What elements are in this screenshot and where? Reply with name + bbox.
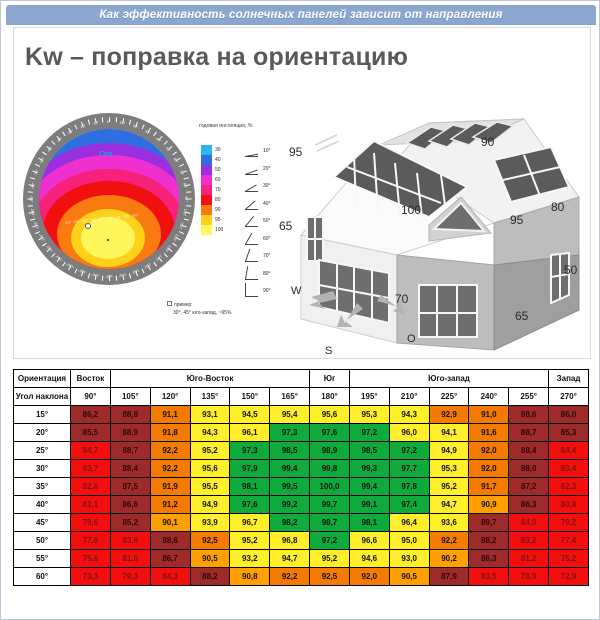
table-angle-header: 270° bbox=[549, 388, 589, 406]
tilt-angle-icon bbox=[245, 215, 260, 228]
ramp-swatch bbox=[201, 145, 212, 155]
table-cell: 99,5 bbox=[270, 478, 310, 496]
table-cell: 97,2 bbox=[310, 532, 350, 550]
ramp-label: 100 bbox=[215, 225, 223, 235]
table-cell: 99,8 bbox=[310, 460, 350, 478]
table-cell: 99,2 bbox=[270, 496, 310, 514]
table-cell: 94,9 bbox=[190, 496, 230, 514]
table-cell: 98,1 bbox=[349, 514, 389, 532]
tilt-angle-icon bbox=[245, 145, 260, 158]
table-cell: 88,8 bbox=[110, 406, 150, 424]
table-cell: 95,4 bbox=[270, 406, 310, 424]
table-cell: 88,0 bbox=[509, 460, 549, 478]
table-group-header: Восток bbox=[71, 370, 111, 388]
tilt-angle-icon bbox=[245, 268, 260, 281]
ramp-label: 30 bbox=[215, 145, 223, 155]
table-cell: 92,2 bbox=[429, 532, 469, 550]
table-angle-header: 135° bbox=[190, 388, 230, 406]
polar-tick-label: 90° bbox=[184, 193, 188, 205]
house-illustration: 9590809510065507065 WSO bbox=[279, 105, 589, 355]
table-cell: 87,5 bbox=[110, 478, 150, 496]
table-cell: 97,8 bbox=[389, 478, 429, 496]
table-cell: 95,0 bbox=[389, 532, 429, 550]
table-tilt-label: 40° bbox=[14, 496, 71, 514]
table-cell: 92,9 bbox=[429, 406, 469, 424]
legend-angle-label: 40° bbox=[263, 198, 271, 211]
table-cell: 92,2 bbox=[150, 442, 190, 460]
table-cell: 80,8 bbox=[549, 496, 589, 514]
table-cell: 89,7 bbox=[469, 514, 509, 532]
table-cell: 75,2 bbox=[549, 550, 589, 568]
table-cell: 97,6 bbox=[230, 496, 270, 514]
legend-example: пример: 30°, 45° юго-запад, ~95% bbox=[167, 301, 231, 317]
table-cell: 98,9 bbox=[310, 442, 350, 460]
table-cell: 94,6 bbox=[349, 550, 389, 568]
table-cell: 85,5 bbox=[71, 424, 111, 442]
table-cell: 83,6 bbox=[110, 532, 150, 550]
table-cell: 85,3 bbox=[549, 424, 589, 442]
table-cell: 94,7 bbox=[270, 550, 310, 568]
table-group-header-row: Ориентация ВостокЮго-ВостокЮгЮго-западЗа… bbox=[14, 370, 589, 388]
table-tilt-label: 45° bbox=[14, 514, 71, 532]
table-row: 25°84,788,792,295,297,398,598,998,597,29… bbox=[14, 442, 589, 460]
table-cell: 94,5 bbox=[230, 406, 270, 424]
legend-angle-label: 60° bbox=[263, 233, 271, 246]
table-cell: 75,6 bbox=[71, 550, 111, 568]
table-cell: 92,5 bbox=[310, 568, 350, 586]
ramp-label: 60 bbox=[215, 175, 223, 185]
table-tilt-label: 25° bbox=[14, 442, 71, 460]
polar-tick-label: 180° bbox=[103, 274, 115, 278]
table-cell: 72,9 bbox=[549, 568, 589, 586]
table-group-header: Юго-Восток bbox=[110, 370, 309, 388]
table-body: 15°86,288,891,193,194,595,495,695,394,39… bbox=[14, 406, 589, 586]
house-value: 95 bbox=[510, 213, 523, 227]
table-cell: 88,4 bbox=[110, 460, 150, 478]
legend-angle-label: 30° bbox=[263, 180, 271, 193]
table-cell: 96,1 bbox=[230, 424, 270, 442]
table-cell: 98,5 bbox=[270, 442, 310, 460]
table-cell: 84,4 bbox=[549, 442, 589, 460]
table-cell: 81,1 bbox=[71, 496, 111, 514]
slide: Как эффективность солнечных панелей зави… bbox=[0, 0, 600, 620]
table-cell: 99,7 bbox=[310, 496, 350, 514]
table-cell: 86,6 bbox=[110, 496, 150, 514]
table-cell: 91,1 bbox=[150, 406, 190, 424]
legend-angle-label: 90° bbox=[263, 285, 271, 298]
ramp-swatch bbox=[201, 185, 212, 195]
table-cell: 88,6 bbox=[150, 532, 190, 550]
table-group-header: Юго-запад bbox=[349, 370, 548, 388]
table-cell: 98,2 bbox=[270, 514, 310, 532]
table-cell: 96,7 bbox=[230, 514, 270, 532]
house-svg bbox=[279, 105, 589, 355]
center-dot bbox=[107, 239, 109, 241]
table-cell: 95,6 bbox=[310, 406, 350, 424]
table-cell: 81,6 bbox=[110, 550, 150, 568]
table-cell: 87,2 bbox=[509, 478, 549, 496]
polar-tick-label: 80° bbox=[182, 179, 188, 192]
ramp-swatch bbox=[201, 195, 212, 205]
tilt-angle-icon bbox=[245, 163, 260, 176]
table-cell: 77,4 bbox=[549, 532, 589, 550]
ramp-label: 95 bbox=[215, 215, 223, 225]
table-cell: 90,2 bbox=[429, 550, 469, 568]
table-cell: 97,6 bbox=[310, 424, 350, 442]
ramp-label: 70 bbox=[215, 185, 223, 195]
table-cell: 99,3 bbox=[349, 460, 389, 478]
ramp-swatch bbox=[201, 175, 212, 185]
polar-tick-label: -80° bbox=[30, 179, 36, 192]
page-title: Kw – поправка на ориентацию bbox=[25, 43, 408, 72]
table-cell: 99,4 bbox=[270, 460, 310, 478]
table-cell: 98,7 bbox=[310, 514, 350, 532]
table-cell: 99,1 bbox=[349, 496, 389, 514]
table-row: 60°73,379,384,388,290,892,292,592,090,58… bbox=[14, 568, 589, 586]
table-cell: 83,7 bbox=[71, 460, 111, 478]
table-group-header: Юг bbox=[310, 370, 350, 388]
table-cell: 91,6 bbox=[469, 424, 509, 442]
ramp-swatch bbox=[201, 155, 212, 165]
ramp-swatch bbox=[201, 225, 212, 235]
table-cell: 95,2 bbox=[190, 442, 230, 460]
table-cell: 93,1 bbox=[190, 406, 230, 424]
compass-label: S bbox=[325, 345, 332, 357]
table-corner-tilt: Угол наклона bbox=[14, 388, 71, 406]
ramp-swatch bbox=[201, 215, 212, 225]
table-cell: 88,9 bbox=[110, 424, 150, 442]
table-tilt-label: 15° bbox=[14, 406, 71, 424]
ramp-swatches bbox=[201, 145, 212, 235]
table-cell: 90,9 bbox=[469, 496, 509, 514]
house-value: 50 bbox=[564, 263, 577, 277]
table-cell: 100,0 bbox=[310, 478, 350, 496]
table-cell: 98,5 bbox=[349, 442, 389, 460]
table-cell: 96,8 bbox=[270, 532, 310, 550]
table-cell: 90,1 bbox=[150, 514, 190, 532]
table-cell: 77,6 bbox=[71, 532, 111, 550]
legend-angle-row: 30° bbox=[245, 180, 271, 198]
legend-angle-row: 10° bbox=[245, 145, 271, 163]
table-row: 40°81,186,691,294,997,699,299,799,197,49… bbox=[14, 496, 589, 514]
example-detail: 30°, 45° юго-запад, ~95% bbox=[173, 310, 231, 316]
table-cell: 94,9 bbox=[429, 442, 469, 460]
compass-label: O bbox=[407, 333, 416, 345]
table-cell: 95,6 bbox=[190, 460, 230, 478]
table-angle-header: 255° bbox=[509, 388, 549, 406]
table-cell: 86,0 bbox=[549, 406, 589, 424]
polar-tick-label: -90° bbox=[30, 193, 34, 205]
table-cell: 86,2 bbox=[71, 406, 111, 424]
table-angle-header: 120° bbox=[150, 388, 190, 406]
table-cell: 92,0 bbox=[349, 568, 389, 586]
table-row: 15°86,288,891,193,194,595,495,695,394,39… bbox=[14, 406, 589, 424]
table-row: 35°82,687,591,995,598,199,5100,099,497,8… bbox=[14, 478, 589, 496]
table-cell: 84,3 bbox=[150, 568, 190, 586]
table-cell: 88,6 bbox=[509, 406, 549, 424]
table-cell: 79,3 bbox=[110, 568, 150, 586]
table-cell: 97,3 bbox=[270, 424, 310, 442]
table-cell: 78,9 bbox=[509, 568, 549, 586]
legend-angle-row: 70° bbox=[245, 250, 271, 268]
table-angle-header: 225° bbox=[429, 388, 469, 406]
house-value: 65 bbox=[279, 219, 292, 233]
table-tilt-label: 60° bbox=[14, 568, 71, 586]
table-tilt-label: 20° bbox=[14, 424, 71, 442]
compass-label: W bbox=[291, 285, 301, 297]
house-value: 90 bbox=[481, 135, 494, 149]
table-cell: 84,8 bbox=[509, 514, 549, 532]
table-cell: 88,2 bbox=[190, 568, 230, 586]
table-row: 55°75,681,686,790,593,294,795,294,693,09… bbox=[14, 550, 589, 568]
table-cell: 88,2 bbox=[469, 532, 509, 550]
table-cell: 94,7 bbox=[429, 496, 469, 514]
polar-north-label: Сев bbox=[99, 151, 112, 158]
legend-angle-row: 50° bbox=[245, 215, 271, 233]
table-cell: 97,2 bbox=[389, 442, 429, 460]
ramp-labels: 3040506070809095100 bbox=[215, 145, 223, 235]
legend-tilt-angles: 10°20°30°40°50°60°70°80°90° bbox=[245, 145, 271, 303]
table-cell: 82,6 bbox=[71, 478, 111, 496]
table-cell: 96,6 bbox=[349, 532, 389, 550]
table-cell: 95,2 bbox=[429, 478, 469, 496]
table-cell: 79,6 bbox=[71, 514, 111, 532]
house-value: 70 bbox=[395, 292, 408, 306]
table-cell: 86,3 bbox=[469, 550, 509, 568]
table-row: 30°83,788,492,295,697,999,499,899,397,79… bbox=[14, 460, 589, 478]
table-cell: 95,2 bbox=[230, 532, 270, 550]
table-row: 45°79,685,290,193,996,798,298,798,196,49… bbox=[14, 514, 589, 532]
house-value: 100 bbox=[401, 203, 421, 217]
tilt-angle-icon bbox=[245, 285, 260, 298]
table-angle-header: 90° bbox=[71, 388, 111, 406]
table-cell: 93,9 bbox=[190, 514, 230, 532]
table-cell: 86,3 bbox=[509, 496, 549, 514]
example-swatch-icon bbox=[167, 301, 172, 306]
table-angle-header: 165° bbox=[270, 388, 310, 406]
ramp-label: 90 bbox=[215, 205, 223, 215]
polar-tick-label: -100° bbox=[30, 206, 36, 219]
table-tilt-label: 50° bbox=[14, 532, 71, 550]
house-value: 95 bbox=[289, 145, 302, 159]
table-cell: 96,4 bbox=[389, 514, 429, 532]
table-cell: 90,5 bbox=[190, 550, 230, 568]
table-cell: 95,3 bbox=[349, 406, 389, 424]
table-corner-orientation: Ориентация bbox=[14, 370, 71, 388]
table-angle-header: 105° bbox=[110, 388, 150, 406]
table-angle-header: 180° bbox=[310, 388, 350, 406]
legend-angle-row: 40° bbox=[245, 198, 271, 216]
example-label: пример: bbox=[174, 302, 193, 308]
table-cell: 84,7 bbox=[71, 442, 111, 460]
table-tilt-label: 30° bbox=[14, 460, 71, 478]
legend-angle-label: 50° bbox=[263, 215, 271, 228]
tilt-angle-icon bbox=[245, 180, 260, 193]
table-cell: 92,0 bbox=[469, 460, 509, 478]
house-value: 65 bbox=[515, 309, 528, 323]
table-cell: 92,5 bbox=[190, 532, 230, 550]
table-cell: 97,2 bbox=[349, 424, 389, 442]
table-cell: 88,7 bbox=[110, 442, 150, 460]
table-cell: 73,3 bbox=[71, 568, 111, 586]
table-group-header: Запад bbox=[549, 370, 589, 388]
orientation-correction-table: Ориентация ВостокЮго-ВостокЮгЮго-западЗа… bbox=[13, 369, 589, 586]
table-cell: 93,0 bbox=[389, 550, 429, 568]
table-cell: 93,6 bbox=[429, 514, 469, 532]
table-row: 20°85,588,991,894,396,197,397,697,296,09… bbox=[14, 424, 589, 442]
polar-tick-label: 10° bbox=[116, 120, 129, 126]
tilt-angle-icon bbox=[245, 198, 260, 211]
table-cell: 88,7 bbox=[509, 424, 549, 442]
table-cell: 79,2 bbox=[549, 514, 589, 532]
banner: Как эффективность солнечных панелей зави… bbox=[6, 5, 596, 25]
table-cell: 94,3 bbox=[389, 406, 429, 424]
ramp-swatch bbox=[201, 165, 212, 175]
table-tilt-label: 35° bbox=[14, 478, 71, 496]
tilt-angle-icon bbox=[245, 250, 260, 263]
polar-tick-label: 0° bbox=[103, 120, 115, 124]
legend-angle-label: 70° bbox=[263, 250, 271, 263]
table-cell: 97,7 bbox=[389, 460, 429, 478]
table-cell: 88,4 bbox=[509, 442, 549, 460]
table-cell: 92,2 bbox=[270, 568, 310, 586]
banner-title: Как эффективность солнечных панелей зави… bbox=[99, 9, 502, 21]
legend-angle-row: 60° bbox=[245, 233, 271, 251]
table-cell: 83,5 bbox=[469, 568, 509, 586]
table-cell: 91,7 bbox=[469, 478, 509, 496]
ramp-swatch bbox=[201, 205, 212, 215]
table-cell: 91,8 bbox=[150, 424, 190, 442]
table-cell: 98,1 bbox=[230, 478, 270, 496]
polar-contour-plot: Сев 10° 20° 30° 40° 50° 60° 70° 80° 90° bbox=[39, 129, 179, 269]
table-cell: 90,5 bbox=[389, 568, 429, 586]
table-cell: 92,0 bbox=[469, 442, 509, 460]
example-marker bbox=[85, 223, 91, 229]
table-cell: 96,0 bbox=[389, 424, 429, 442]
table-cell: 97,3 bbox=[230, 442, 270, 460]
legend-angle-label: 10° bbox=[263, 145, 271, 158]
table-cell: 87,9 bbox=[429, 568, 469, 586]
polar-insolation-chart: 0°10°20°30°40°50°60°70°80°90°100°110°120… bbox=[19, 109, 199, 299]
table-cell: 97,4 bbox=[389, 496, 429, 514]
table-cell: 95,2 bbox=[310, 550, 350, 568]
table-cell: 86,7 bbox=[150, 550, 190, 568]
table-angle-header: 240° bbox=[469, 388, 509, 406]
table-cell: 83,2 bbox=[509, 532, 549, 550]
table-cell: 97,9 bbox=[230, 460, 270, 478]
table-cell: 99,4 bbox=[349, 478, 389, 496]
table-tilt-label: 55° bbox=[14, 550, 71, 568]
table-angle-header: 195° bbox=[349, 388, 389, 406]
table-cell: 83,4 bbox=[549, 460, 589, 478]
table-cell: 81,2 bbox=[509, 550, 549, 568]
table-cell: 91,2 bbox=[150, 496, 190, 514]
legend-angle-row: 20° bbox=[245, 163, 271, 181]
table-cell: 92,2 bbox=[150, 460, 190, 478]
table-angle-header: 150° bbox=[230, 388, 270, 406]
polar-tick-label: -10° bbox=[89, 120, 102, 126]
table-cell: 82,3 bbox=[549, 478, 589, 496]
table-row: 50°77,683,688,692,595,296,897,296,695,09… bbox=[14, 532, 589, 550]
table-angle-header: 210° bbox=[389, 388, 429, 406]
legend-angle-label: 80° bbox=[263, 268, 271, 281]
table-angle-header-row: Угол наклона 90°105°120°135°150°165°180°… bbox=[14, 388, 589, 406]
legend-angle-row: 90° bbox=[245, 285, 271, 303]
ramp-label: 80 bbox=[215, 195, 223, 205]
table-cell: 91,9 bbox=[150, 478, 190, 496]
kw-table: Ориентация ВостокЮго-ВостокЮгЮго-западЗа… bbox=[13, 369, 589, 586]
legend-angle-label: 20° bbox=[263, 163, 271, 176]
table-cell: 90,8 bbox=[230, 568, 270, 586]
table-cell: 94,3 bbox=[190, 424, 230, 442]
legend-angle-row: 80° bbox=[245, 268, 271, 286]
table-cell: 93,2 bbox=[230, 550, 270, 568]
legend-color-ramp: 3040506070809095100 bbox=[201, 145, 223, 235]
table-cell: 94,1 bbox=[429, 424, 469, 442]
polar-tick-label: -170° bbox=[89, 272, 102, 278]
table-cell: 95,5 bbox=[190, 478, 230, 496]
tilt-angle-icon bbox=[245, 233, 260, 246]
house-value: 80 bbox=[551, 200, 564, 214]
ramp-label: 40 bbox=[215, 155, 223, 165]
table-cell: 95,3 bbox=[429, 460, 469, 478]
ramp-label: 50 bbox=[215, 165, 223, 175]
table-cell: 91,0 bbox=[469, 406, 509, 424]
table-cell: 85,2 bbox=[110, 514, 150, 532]
